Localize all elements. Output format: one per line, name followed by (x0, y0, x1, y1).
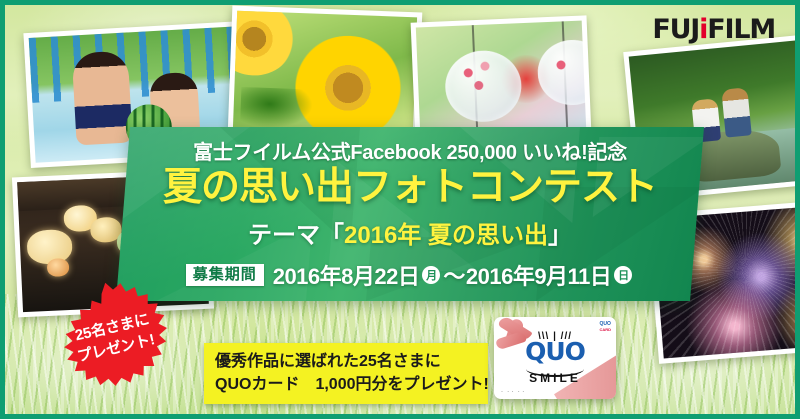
quo-card-smile-arc (526, 361, 584, 377)
photo-wind-chimes (411, 15, 592, 140)
photo-sunflowers (228, 6, 423, 141)
headline-band-content: 富士フイルム公式Facebook 250,000 いいね!記念 夏の思い出フォト… (123, 127, 697, 301)
period-separator: ～ (443, 259, 465, 291)
prize-line-1: 優秀作品に選ばれた25名さまに (215, 350, 479, 373)
quo-card-fine-print: ・ ・・ ・・ (500, 389, 526, 395)
page-title: 夏の思い出フォトコンテスト (163, 167, 657, 209)
theme-line: テーマ「2016年 夏の思い出」 (248, 215, 572, 250)
prize-line-2: QUOカード 1,000円分をプレゼント! (215, 373, 479, 396)
theme-suffix: 」 (548, 222, 572, 249)
logo-text-right: FILM (707, 14, 775, 45)
period-end-weekday: 日 (614, 266, 632, 284)
period-end-date: 2016年9月11日 (466, 259, 611, 291)
logo-text-left: FUJ (652, 14, 699, 45)
prize-description-box: 優秀作品に選ばれた25名さまに QUOカード 1,000円分をプレゼント! (204, 343, 488, 404)
entry-period-row: 募集期間 2016年8月22日月～2016年9月11日日 (186, 259, 635, 291)
period-start-date: 2016年8月22日 (273, 259, 420, 291)
quo-card-image: \\\ | /// QUO SMILE QUO CARD ・ ・・ ・・ (494, 317, 616, 399)
quo-card-mini-logo: QUO CARD (599, 322, 611, 332)
entry-period-dates: 2016年8月22日月～2016年9月11日日 (273, 259, 635, 291)
theme-value: 2016年 夏の思い出 (344, 222, 548, 249)
fujifilm-logo: FUJiFILM (652, 16, 775, 43)
theme-prefix: テーマ「 (248, 222, 344, 249)
headline-kicker: 富士フイルム公式Facebook 250,000 いいね!記念 (193, 136, 627, 165)
entry-period-badge: 募集期間 (186, 264, 264, 287)
fujifilm-photo-contest-banner: 富士フイルム公式Facebook 250,000 いいね!記念 夏の思い出フォト… (0, 0, 800, 419)
period-start-weekday: 月 (422, 266, 440, 284)
